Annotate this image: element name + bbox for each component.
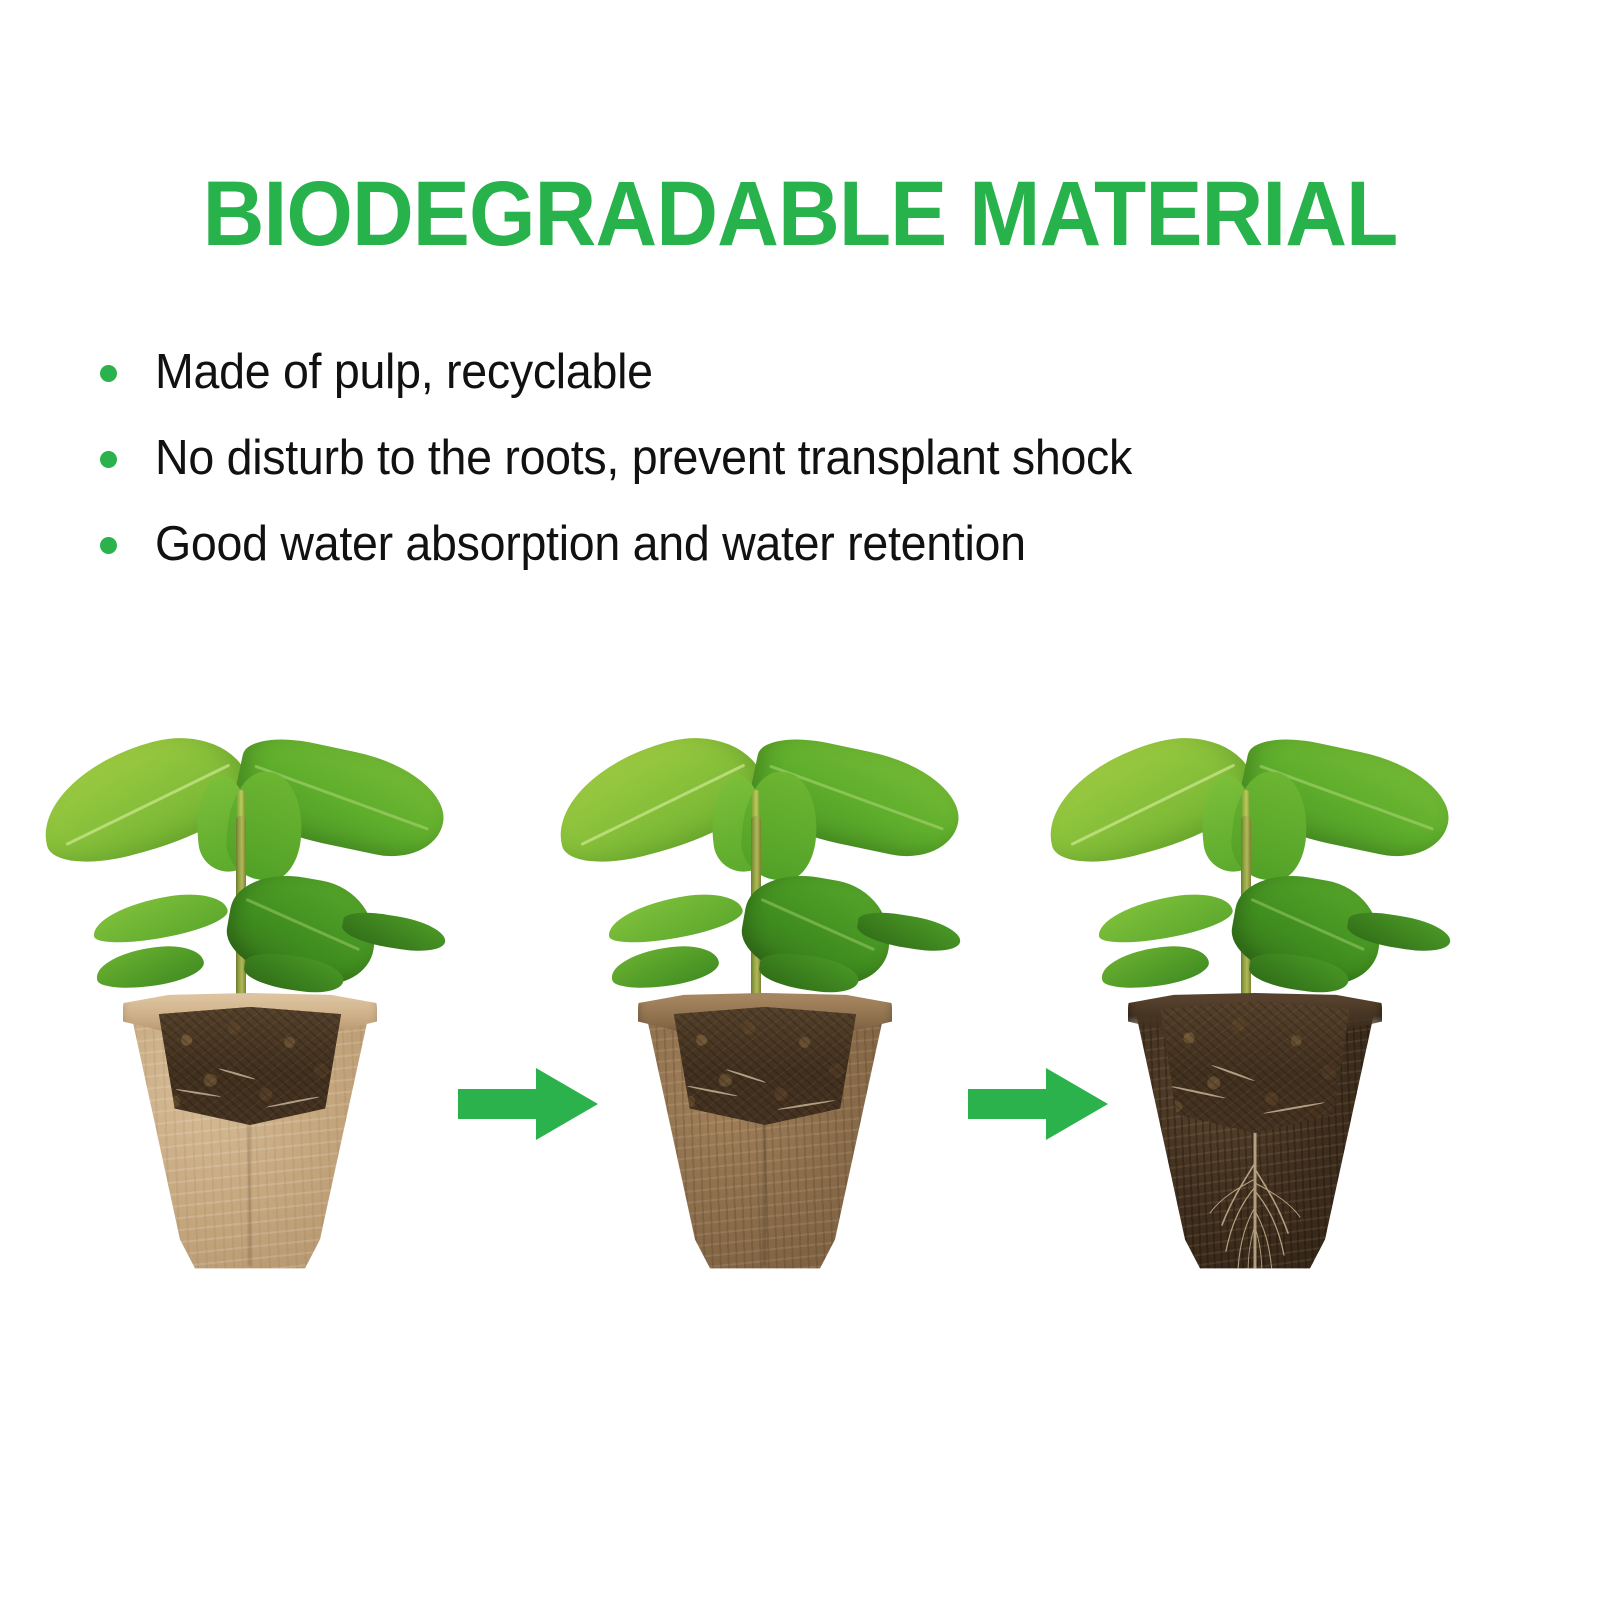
feature-label: Made of pulp, recyclable [155, 346, 653, 400]
pot-opening [151, 1007, 349, 1125]
biodegradable-pot [1130, 985, 1380, 1270]
stage-decomposing-pulp-pot [545, 720, 975, 1280]
biodegradable-pot [640, 985, 890, 1270]
leaf-mid-left [1095, 888, 1236, 949]
seedling-plant [30, 720, 460, 1020]
list-item: Good water absorption and water retentio… [100, 502, 1520, 588]
feature-list: Made of pulp, recyclable No disturb to t… [100, 330, 1520, 588]
biodegradable-pot [125, 985, 375, 1270]
seedling-plant [1035, 720, 1465, 1020]
infographic-page: BIODEGRADABLE MATERIAL Made of pulp, rec… [0, 0, 1600, 1600]
soil [1152, 1001, 1358, 1133]
seedling-plant [545, 720, 975, 1020]
page-title: BIODEGRADABLE MATERIAL [56, 168, 1544, 260]
pot-opening [666, 1007, 864, 1125]
bullet-dot-icon [100, 537, 117, 554]
leaf-mid-left [605, 888, 746, 949]
feature-label: Good water absorption and water retentio… [155, 518, 1026, 572]
leaf-mid-left [90, 888, 231, 949]
pot-opening [1152, 1001, 1358, 1133]
bullet-dot-icon [100, 451, 117, 468]
stage-decomposed-pot-with-roots [1035, 720, 1465, 1280]
bullet-dot-icon [100, 365, 117, 382]
soil [666, 1007, 864, 1125]
feature-label: No disturb to the roots, prevent transpl… [155, 432, 1132, 486]
stage-fresh-pulp-pot [30, 720, 460, 1280]
list-item: Made of pulp, recyclable [100, 330, 1520, 416]
soil [151, 1007, 349, 1125]
list-item: No disturb to the roots, prevent transpl… [100, 416, 1520, 502]
